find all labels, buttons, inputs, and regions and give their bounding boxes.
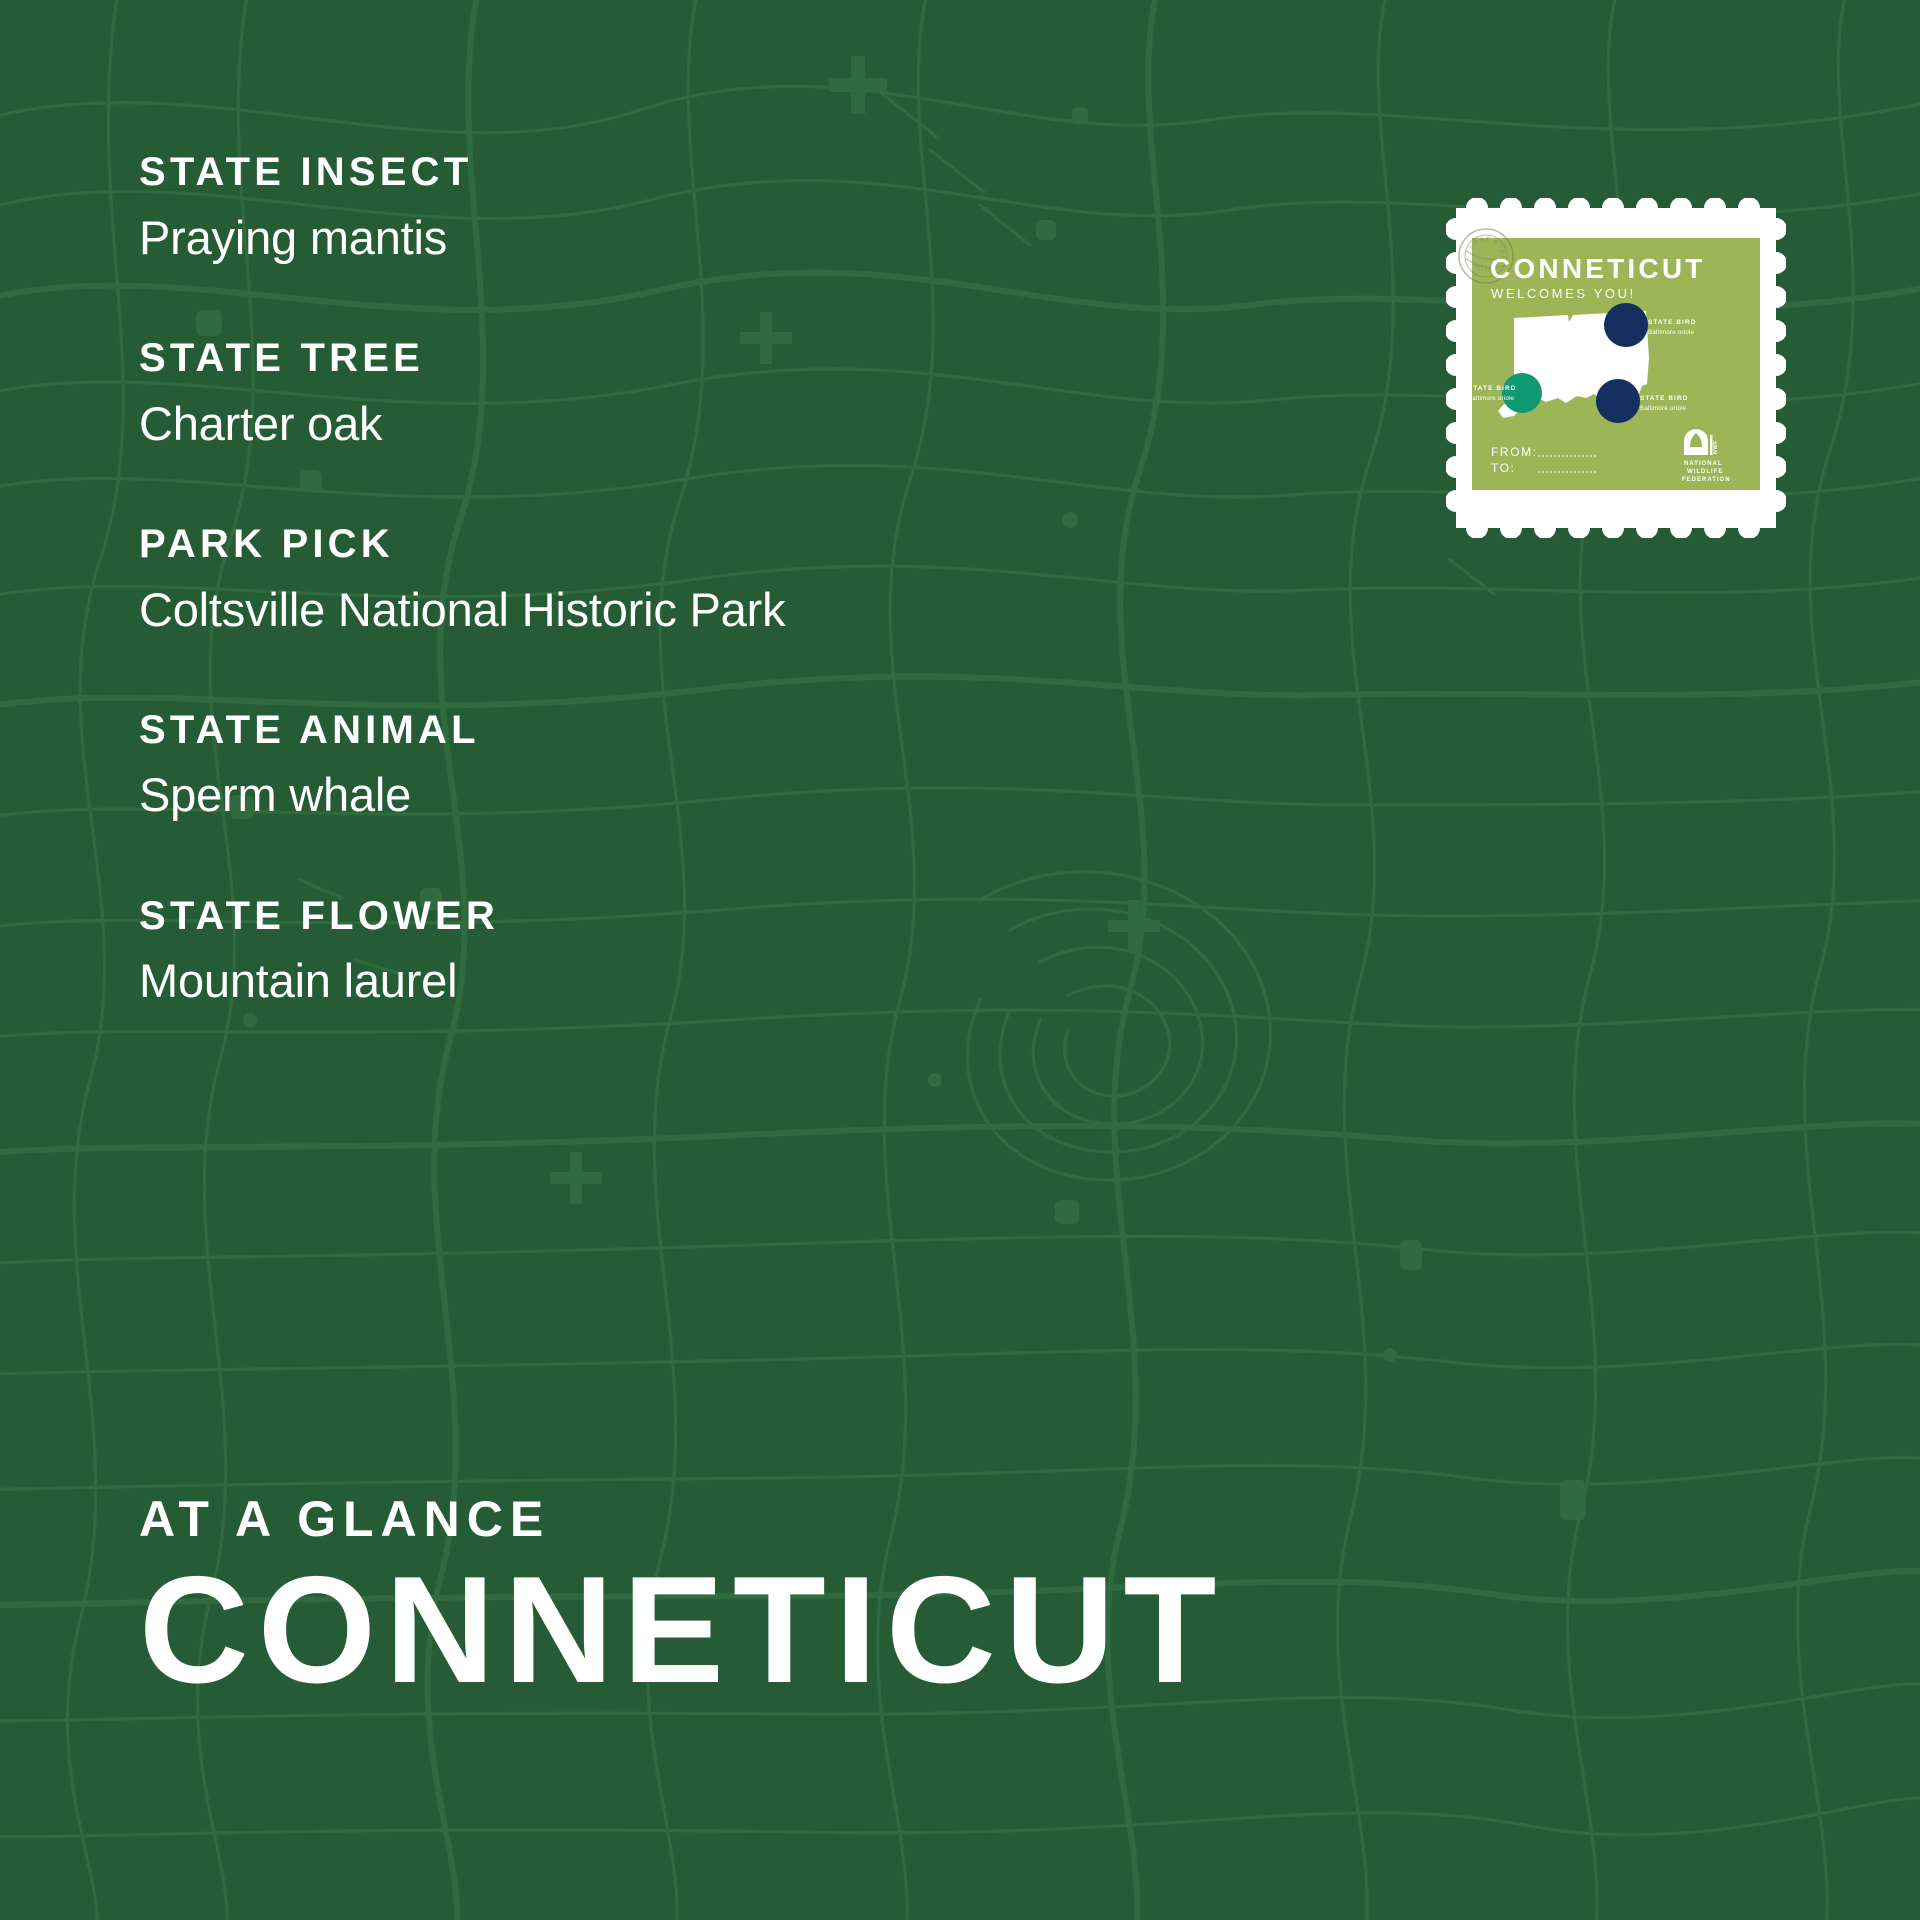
fact-label: PARK PICK — [139, 522, 1139, 567]
fact-value: Coltsville National Historic Park — [139, 579, 1139, 640]
callout-label: STATE BIRD — [1648, 319, 1696, 326]
fact-state-animal: STATE ANIMAL Sperm whale — [139, 708, 1139, 826]
headline-eyebrow: AT A GLANCE — [139, 1494, 1225, 1544]
to-label: TO: — [1491, 461, 1516, 475]
postage-stamp-graphic: POST OFFICE UNITED CONNETICUT WELCOMES Y… — [1446, 198, 1786, 538]
fact-value: Praying mantis — [139, 207, 1139, 268]
callout-dot-navy — [1604, 303, 1648, 347]
stamp-title: CONNETICUT — [1490, 253, 1706, 284]
fact-label: STATE ANIMAL — [139, 708, 1139, 753]
stamp-svg: POST OFFICE UNITED CONNETICUT WELCOMES Y… — [1446, 198, 1786, 538]
callout-value: Baltimore oriole — [1640, 405, 1687, 412]
headline-state-name: CONNETICUT — [139, 1556, 1225, 1705]
from-label: FROM: — [1491, 445, 1538, 459]
fact-state-insect: STATE INSECT Praying mantis — [139, 150, 1139, 268]
nwf-line2: WILDLIFE — [1687, 469, 1723, 475]
callout-label: STATE BIRD — [1468, 385, 1516, 392]
callout-label: STATE BIRD — [1640, 395, 1688, 402]
fact-value: Mountain laurel — [139, 950, 1139, 1011]
callout-dot-teal — [1502, 373, 1542, 413]
fact-label: STATE INSECT — [139, 150, 1139, 195]
fact-value: Sperm whale — [139, 764, 1139, 825]
stamp-subtitle: WELCOMES YOU! — [1491, 286, 1636, 301]
nwf-line3: FEDERATION — [1682, 477, 1731, 483]
nwf-line1: NATIONAL — [1684, 461, 1723, 467]
fact-label: STATE FLOWER — [139, 894, 1139, 939]
fact-value: Charter oak — [139, 393, 1139, 454]
callout-value: Baltimore oriole — [1648, 329, 1695, 336]
callout-value: Baltimore oriole — [1468, 395, 1515, 402]
nwf-mark: NWF — [1713, 440, 1719, 454]
fact-state-flower: STATE FLOWER Mountain laurel — [139, 894, 1139, 1012]
callout-dot-navy — [1596, 379, 1640, 423]
fact-park-pick: PARK PICK Coltsville National Historic P… — [139, 522, 1139, 640]
fact-label: STATE TREE — [139, 336, 1139, 381]
headline-block: AT A GLANCE CONNETICUT — [139, 1494, 1225, 1705]
fact-state-tree: STATE TREE Charter oak — [139, 336, 1139, 454]
state-facts-list: STATE INSECT Praying mantis STATE TREE C… — [139, 150, 1139, 1011]
